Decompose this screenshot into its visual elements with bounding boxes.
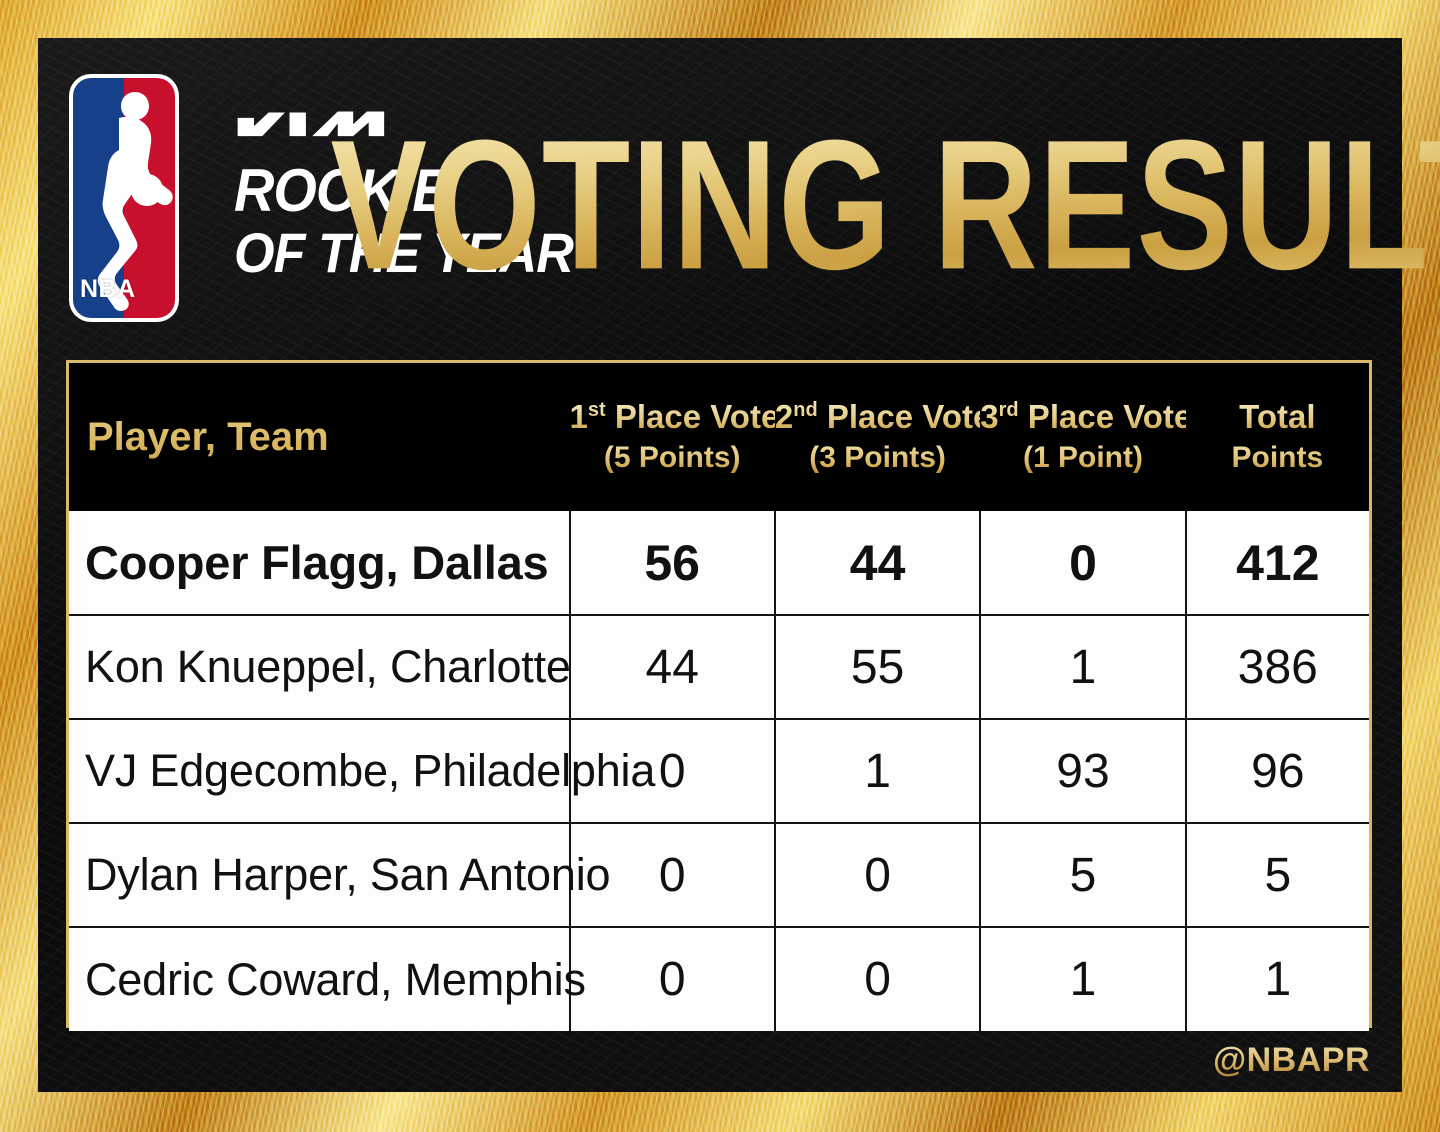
- table-row: Dylan Harper, San Antonio0055: [69, 823, 1369, 927]
- table-header-row: Player, Team 1st Place Votes (5 Points) …: [69, 363, 1369, 511]
- cell-total-points: 386: [1186, 615, 1369, 719]
- cell-total-points: 1: [1186, 927, 1369, 1031]
- cell-player-team: Cooper Flagg, Dallas: [69, 511, 570, 615]
- second-place-header-points: (3 Points): [775, 442, 980, 474]
- second-ordinal-number: 2: [775, 398, 793, 435]
- second-ordinal-suffix: nd: [793, 399, 817, 421]
- cell-player-team: VJ Edgecombe, Philadelphia: [69, 719, 570, 823]
- cell-second-place-votes: 0: [775, 823, 980, 927]
- total-header-sub: Points: [1186, 442, 1369, 474]
- page-title-text: VOTING RESULTS: [331, 114, 1440, 299]
- cell-total-points: 96: [1186, 719, 1369, 823]
- page-title: VOTING RESULTS: [558, 116, 1378, 296]
- column-header-total-points: Total Points: [1186, 363, 1369, 511]
- table-row: Cooper Flagg, Dallas56440412: [69, 511, 1369, 615]
- table-body: Cooper Flagg, Dallas56440412Kon Knueppel…: [69, 511, 1369, 1031]
- cell-first-place-votes: 0: [570, 927, 775, 1031]
- third-place-header-label: Place Votes: [1019, 398, 1211, 435]
- column-header-second-place-votes: 2nd Place Votes (3 Points): [775, 363, 980, 511]
- table-row: Cedric Coward, Memphis0011: [69, 927, 1369, 1031]
- table-row: VJ Edgecombe, Philadelphia019396: [69, 719, 1369, 823]
- cell-total-points: 412: [1186, 511, 1369, 615]
- cell-player-team: Dylan Harper, San Antonio: [69, 823, 570, 927]
- nba-shield: NBA: [69, 74, 179, 322]
- cell-third-place-votes: 0: [980, 511, 1185, 615]
- graphic-canvas: NBA ROOKIE OF THE YEAR VOTING RESULTS: [0, 0, 1440, 1132]
- column-header-third-place-votes: 3rd Place Votes (1 Point): [980, 363, 1185, 511]
- nba-logo: NBA: [69, 74, 179, 322]
- column-header-first-place-votes: 1st Place Votes (5 Points): [570, 363, 775, 511]
- nba-shield-inner: NBA: [73, 78, 175, 318]
- cell-first-place-votes: 44: [570, 615, 775, 719]
- cell-player-team: Kon Knueppel, Charlotte: [69, 615, 570, 719]
- cell-third-place-votes: 1: [980, 615, 1185, 719]
- voting-results-table-container: Player, Team 1st Place Votes (5 Points) …: [66, 360, 1372, 1028]
- third-place-header-points: (1 Point): [980, 442, 1185, 474]
- cell-third-place-votes: 1: [980, 927, 1185, 1031]
- cell-total-points: 5: [1186, 823, 1369, 927]
- cell-second-place-votes: 44: [775, 511, 980, 615]
- cell-second-place-votes: 55: [775, 615, 980, 719]
- first-place-header-points: (5 Points): [570, 442, 775, 474]
- third-place-header-main: 3rd Place Votes: [980, 400, 1185, 434]
- header-band: NBA ROOKIE OF THE YEAR VOTING RESULTS: [38, 38, 1402, 360]
- cell-third-place-votes: 5: [980, 823, 1185, 927]
- total-header-main: Total: [1186, 400, 1369, 434]
- cell-player-team: Cedric Coward, Memphis: [69, 927, 570, 1031]
- cell-third-place-votes: 93: [980, 719, 1185, 823]
- first-ordinal-number: 1: [570, 398, 588, 435]
- third-ordinal-suffix: rd: [999, 399, 1019, 421]
- first-ordinal-suffix: st: [588, 399, 606, 421]
- cell-second-place-votes: 0: [775, 927, 980, 1031]
- column-header-player-team: Player, Team: [69, 363, 570, 511]
- first-place-header-label: Place Votes: [606, 398, 798, 435]
- black-panel: NBA ROOKIE OF THE YEAR VOTING RESULTS: [38, 38, 1402, 1092]
- nba-wordmark: NBA: [80, 275, 136, 304]
- third-ordinal-number: 3: [980, 398, 998, 435]
- second-place-header-main: 2nd Place Votes: [775, 400, 980, 434]
- voting-results-table: Player, Team 1st Place Votes (5 Points) …: [69, 363, 1369, 1031]
- table-row: Kon Knueppel, Charlotte44551386: [69, 615, 1369, 719]
- table-head: Player, Team 1st Place Votes (5 Points) …: [69, 363, 1369, 511]
- first-place-header-main: 1st Place Votes: [570, 400, 775, 434]
- cell-first-place-votes: 56: [570, 511, 775, 615]
- nbapr-watermark: @NBAPR: [1213, 1041, 1370, 1080]
- cell-second-place-votes: 1: [775, 719, 980, 823]
